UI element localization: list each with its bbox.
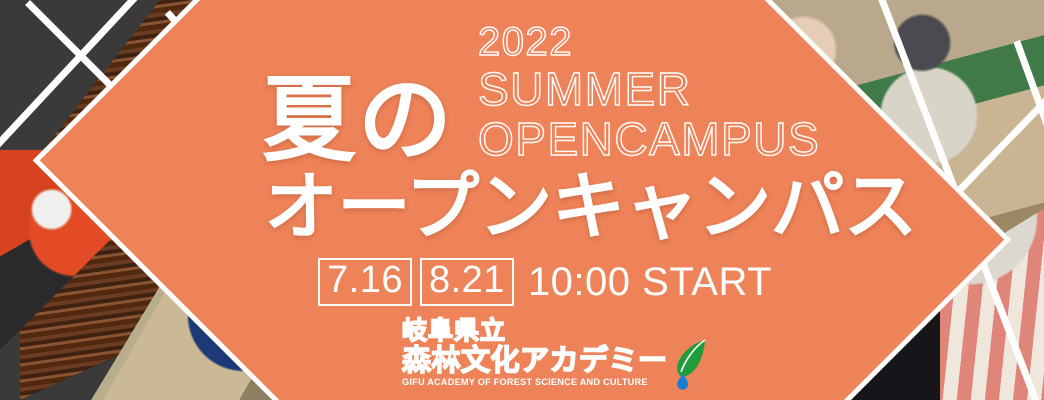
open-campus-banner: 2022 SUMMER OPENCAMPUS 夏の オープンキャンパス 7.16… (0, 0, 1044, 400)
